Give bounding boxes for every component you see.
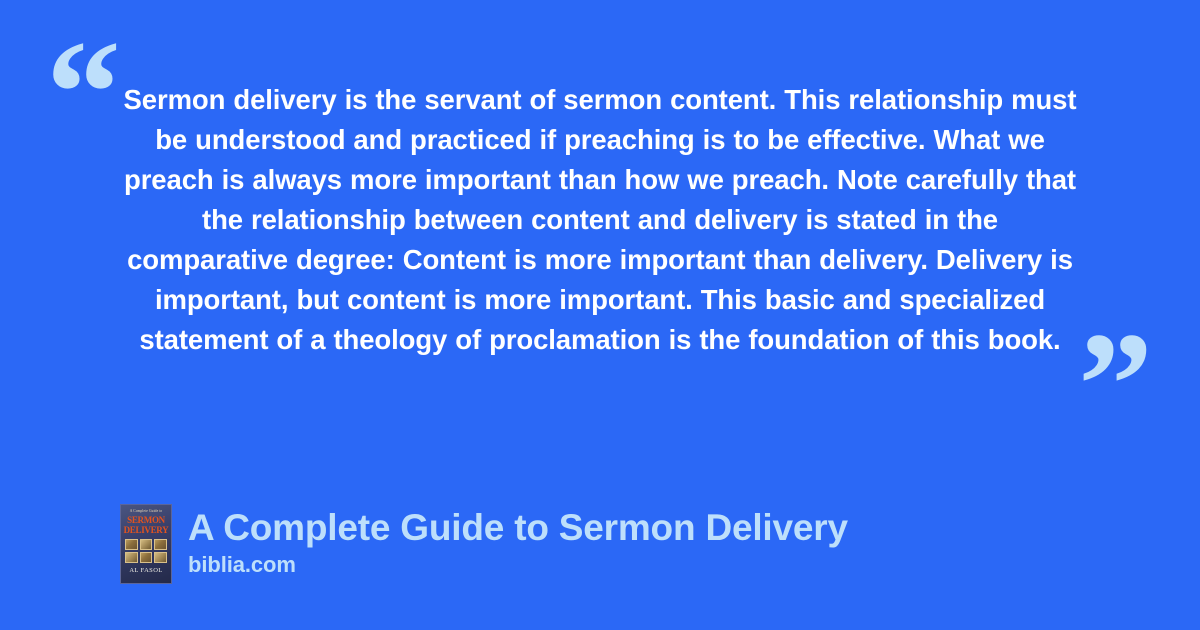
quote-card: “ ” Sermon delivery is the servant of se… bbox=[0, 0, 1200, 630]
source-label: biblia.com bbox=[188, 552, 848, 578]
book-title: A Complete Guide to Sermon Delivery bbox=[188, 506, 848, 550]
book-cover-photo bbox=[125, 552, 138, 563]
attribution-footer: A Complete Guide to SERMON DELIVERY AL F… bbox=[120, 504, 848, 584]
open-quote-icon: “ bbox=[46, 18, 121, 168]
quote-text: Sermon delivery is the servant of sermon… bbox=[118, 80, 1082, 360]
book-cover-photo bbox=[154, 539, 167, 550]
book-cover-photo-grid bbox=[125, 539, 167, 563]
quote-block: Sermon delivery is the servant of sermon… bbox=[118, 80, 1082, 360]
book-cover-photo bbox=[140, 539, 153, 550]
book-cover-thumbnail: A Complete Guide to SERMON DELIVERY AL F… bbox=[120, 504, 172, 584]
book-cover-photo bbox=[154, 552, 167, 563]
close-quote-icon: ” bbox=[1078, 310, 1153, 460]
footer-text-group: A Complete Guide to Sermon Delivery bibl… bbox=[188, 504, 848, 578]
book-cover-photo bbox=[140, 552, 153, 563]
book-cover-author: AL FASOL bbox=[121, 567, 171, 574]
book-cover-kicker: A Complete Guide to bbox=[130, 510, 163, 514]
book-cover-title-line-2: DELIVERY bbox=[124, 526, 169, 535]
book-cover-photo bbox=[125, 539, 138, 550]
book-cover-title-line-1: SERMON bbox=[127, 516, 165, 525]
